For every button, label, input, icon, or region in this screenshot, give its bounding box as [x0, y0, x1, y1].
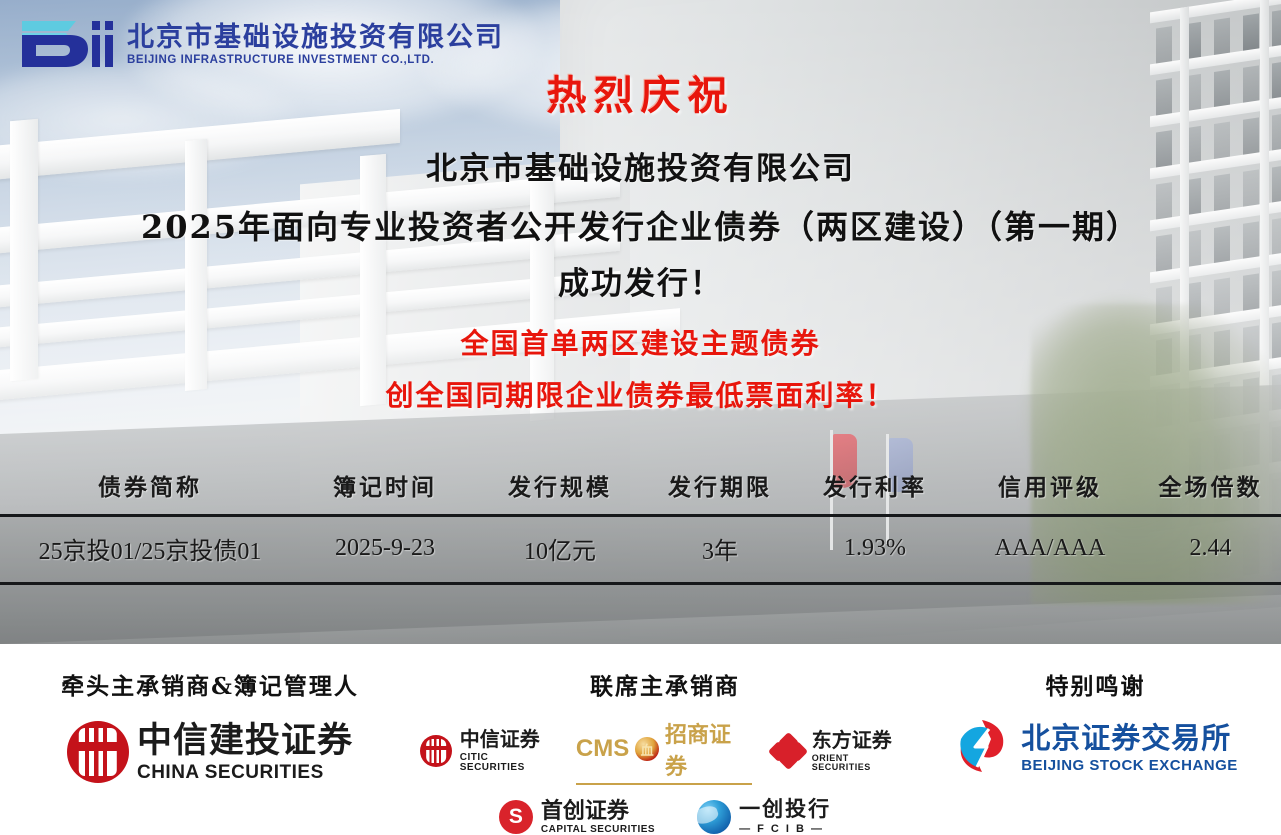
col-header-bond-name: 债券简称: [0, 462, 300, 516]
logo-label-en: CMS: [576, 735, 629, 763]
poster-hero: 北京市基础设施投资有限公司 BEIJING INFRASTRUCTURE INV…: [0, 0, 1281, 644]
cms-coin-icon: 血: [635, 737, 659, 761]
col-header-rate: 发行利率: [790, 462, 960, 516]
logo-label-en: CITIC SECURITIES: [460, 753, 556, 773]
logo-label-cn: 北京证券交易所: [1021, 725, 1238, 754]
cell-term: 3年: [650, 516, 790, 584]
issuer-line: 北京市基础设施投资有限公司: [0, 154, 1281, 185]
col-header-multiple: 全场倍数: [1140, 462, 1281, 516]
logo-label-cn: 首创证券: [541, 800, 655, 822]
cell-issue-size: 10亿元: [470, 516, 650, 584]
logo-label-en: BEIJING STOCK EXCHANGE: [1021, 758, 1238, 773]
headline-block: 热烈庆祝 北京市基础设施投资有限公司 2025年面向专业投资者公开发行企业债券（…: [0, 72, 1281, 410]
col-header-rating: 信用评级: [960, 462, 1140, 516]
logo-orient-securities: 东方证券 ORIENT SECURITIES: [772, 731, 910, 772]
fcib-globe-icon: [697, 800, 731, 834]
logo-label-cn: 一创投行: [739, 799, 831, 820]
company-name-cn: 北京市基础设施投资有限公司: [127, 22, 504, 52]
bond-title-line: 2025年面向专业投资者公开发行企业债券（两区建设）（第一期）: [0, 211, 1281, 243]
highlight-line-2: 创全国同期限企业债券最低票面利率！: [0, 382, 1281, 410]
logo-label-cn: 中信证券: [460, 730, 556, 750]
company-name-en: BEIJING INFRASTRUCTURE INVESTMENT CO.,LT…: [127, 54, 504, 66]
logo-label-en: — F C I B —: [739, 824, 831, 835]
logo-label-en: CHINA SECURITIES: [137, 763, 353, 782]
logo-label-en: ORIENT SECURITIES: [812, 754, 910, 772]
footer-col-special-thanks: 特别鸣谢 北京证券交易所 BEIJING STOCK EXCHANGE: [910, 644, 1281, 828]
table-header-row: 债券简称 簿记时间 发行规模 发行期限 发行利率 信用评级 全场倍数: [0, 462, 1281, 516]
beijing-stock-exchange-mark-icon: [953, 717, 1011, 780]
cell-multiple: 2.44: [1140, 516, 1281, 584]
logo-citic-securities: 中信证券 CITIC SECURITIES: [420, 730, 556, 773]
company-logo: 北京市基础设施投资有限公司 BEIJING INFRASTRUCTURE INV…: [18, 18, 504, 70]
logo-fcib: 一创投行 — F C I B —: [697, 799, 831, 835]
bii-logo-icon: [18, 18, 114, 70]
cell-booking-time: 2025-9-23: [300, 516, 470, 584]
orient-diamond-icon: [772, 736, 804, 766]
citic-securities-mark-icon: [67, 721, 129, 783]
capital-securities-mark-icon: S: [499, 800, 533, 834]
logo-label-cn: 招商证券: [665, 717, 752, 781]
col-header-booking-time: 簿记时间: [300, 462, 470, 516]
col-header-term: 发行期限: [650, 462, 790, 516]
logo-beijing-stock-exchange: 北京证券交易所 BEIJING STOCK EXCHANGE: [953, 717, 1238, 780]
footer-title-joint: 联席主承销商: [420, 667, 910, 701]
bond-summary-table: 债券简称 簿记时间 发行规模 发行期限 发行利率 信用评级 全场倍数 25京投0…: [0, 462, 1281, 585]
cell-bond-name: 25京投01/25京投债01: [0, 516, 300, 584]
logo-label-en: CAPITAL SECURITIES: [541, 825, 655, 835]
celebrate-title: 热烈庆祝: [0, 72, 1281, 120]
table-row: 25京投01/25京投债01 2025-9-23 10亿元 3年 1.93% A…: [0, 516, 1281, 584]
sponsor-footer: 牵头主承销商&簿记管理人 中信建投证券 CHINA SECURITIES 联席主…: [0, 644, 1281, 828]
success-line: 成功发行！: [0, 269, 1281, 300]
logo-china-securities: 中信建投证券 CHINA SECURITIES: [67, 721, 353, 783]
cell-rate: 1.93%: [790, 516, 960, 584]
footer-col-lead-underwriter: 牵头主承销商&簿记管理人 中信建投证券 CHINA SECURITIES: [0, 644, 420, 828]
footer-title-lead: 牵头主承销商&簿记管理人: [0, 667, 420, 701]
footer-title-thanks: 特别鸣谢: [910, 667, 1281, 701]
col-header-issue-size: 发行规模: [470, 462, 650, 516]
logo-cms-securities: CMS 血 招商证券: [576, 717, 752, 785]
logo-label-cn: 中信建投证券: [137, 723, 353, 758]
logo-label-cn: 东方证券: [812, 731, 910, 751]
cell-rating: AAA/AAA: [960, 516, 1140, 584]
citic-securities-mark-icon: [420, 735, 452, 767]
logo-capital-securities: S 首创证券 CAPITAL SECURITIES: [499, 800, 655, 835]
footer-col-joint-underwriters: 联席主承销商 中信证券 CITIC SECURITIES CMS 血 招商证券: [420, 644, 910, 828]
highlight-line-1: 全国首单两区建设主题债券: [0, 330, 1281, 358]
